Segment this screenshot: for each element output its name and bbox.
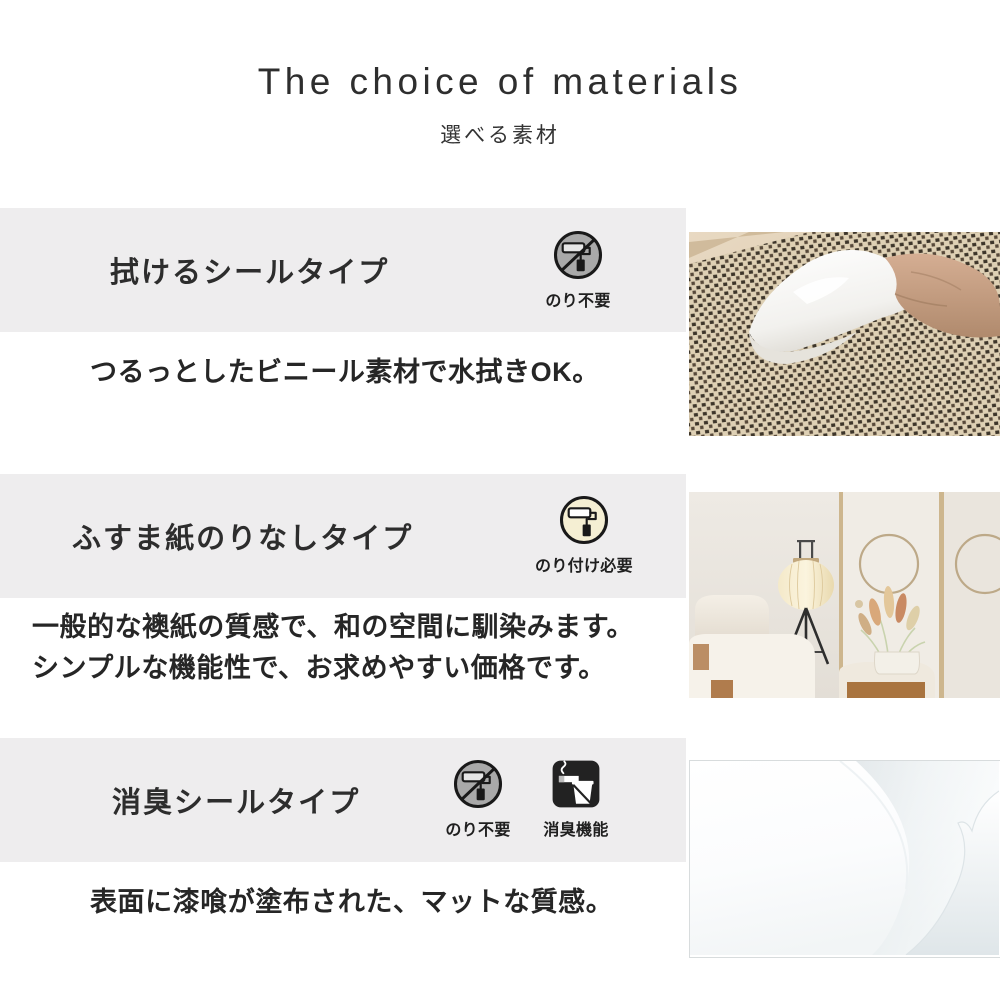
badge-label: のり付け必要 xyxy=(535,552,633,576)
badge-glue-required: のり付け必要 xyxy=(524,493,644,576)
page-title: The choice of materials xyxy=(0,62,1000,103)
section-description: 表面に漆喰が塗布された、マットな質感。 xyxy=(90,882,613,923)
badge-deodorizing: 消臭機能 xyxy=(538,757,614,840)
section-description-line: 一般的な襖紙の質感で、和の空間に馴染みます。 xyxy=(32,607,634,648)
section-description: つるっとしたビニール素材で水拭きOK。 xyxy=(90,352,600,393)
no-glue-roller-icon xyxy=(451,757,505,811)
section-title: ふすま紙のりなしタイプ xyxy=(72,515,413,557)
section-description-line: シンプルな機能性で、お求めやすい価格です。 xyxy=(32,648,634,689)
no-glue-roller-icon xyxy=(551,228,605,282)
section-title: 拭けるシールタイプ xyxy=(110,249,389,291)
section-description: 一般的な襖紙の質感で、和の空間に馴染みます。 シンプルな機能性で、お求めやすい価… xyxy=(32,607,634,689)
page-subtitle: 選べる素材 xyxy=(0,119,1000,149)
badge-label: のり不要 xyxy=(545,287,610,311)
hand-wiping-woven-mat-photo xyxy=(689,232,1000,436)
badge-group: のり不要 消臭機能 xyxy=(440,757,614,840)
deodorizing-function-icon xyxy=(549,757,603,811)
badge-label: のり不要 xyxy=(445,816,510,840)
white-curling-sheet-photo xyxy=(689,760,1000,958)
badge-group: のり不要 xyxy=(540,228,616,311)
japanese-interior-room-photo xyxy=(689,492,1000,698)
badge-no-glue: のり不要 xyxy=(540,228,616,311)
materials-choice-page: The choice of materials 選べる素材 拭けるシールタイプ xyxy=(0,0,1000,1000)
page-header: The choice of materials 選べる素材 xyxy=(0,0,1000,149)
section-title: 消臭シールタイプ xyxy=(112,779,360,821)
badge-label: 消臭機能 xyxy=(543,816,608,840)
badge-group: のり付け必要 xyxy=(524,493,644,576)
badge-no-glue: のり不要 xyxy=(440,757,516,840)
glue-required-roller-icon xyxy=(557,493,611,547)
